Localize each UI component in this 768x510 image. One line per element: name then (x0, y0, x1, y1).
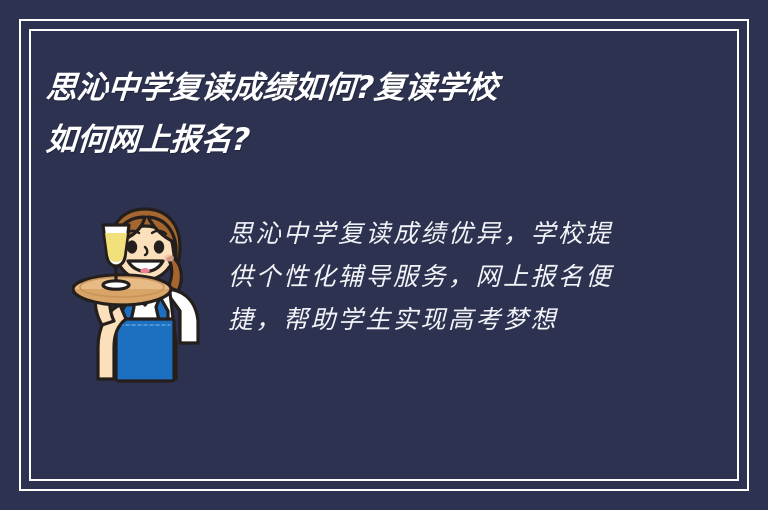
page-title: 思沁中学复读成绩如何?复读学校 如何网上报名? (46, 62, 646, 166)
body-paragraph-line-1: 思沁中学复读成绩优异，学校提 (228, 212, 658, 255)
poster-canvas: 思沁中学复读成绩如何?复读学校 如何网上报名? (0, 0, 768, 510)
body-paragraph-line-2: 供个性化辅导服务，网上报名便 (228, 255, 658, 298)
page-title-line-2: 如何网上报名? (44, 114, 648, 166)
waitress-with-tray-illustration (72, 193, 217, 385)
page-title-line-1: 思沁中学复读成绩如何?复读学校 (44, 62, 648, 114)
body-paragraph-line-3: 捷，帮助学生实现高考梦想 (228, 298, 658, 341)
body-paragraph: 思沁中学复读成绩优异，学校提 供个性化辅导服务，网上报名便 捷，帮助学生实现高考… (228, 212, 658, 341)
